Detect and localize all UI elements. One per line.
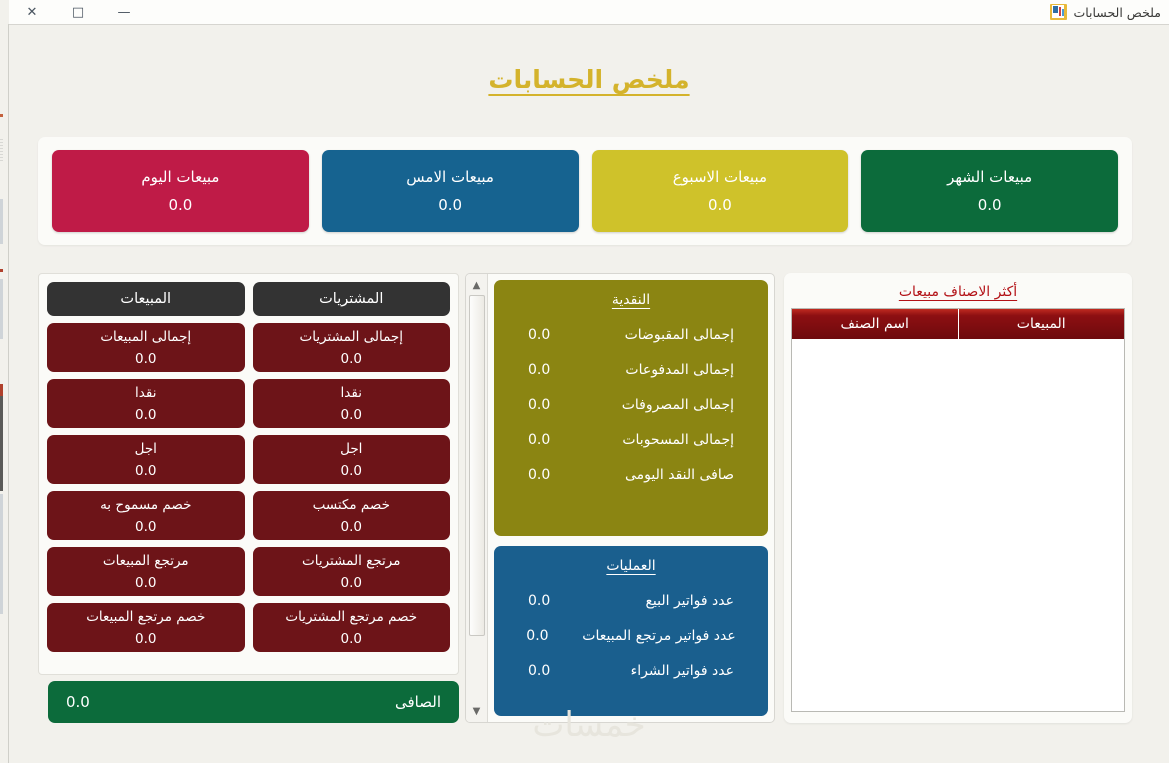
- cell-label: خصم مرتجع المشتريات: [285, 609, 417, 625]
- cash-card-title: النقدية: [510, 292, 752, 308]
- cell-value: 0.0: [135, 407, 156, 423]
- cell-value: 0.0: [341, 463, 362, 479]
- operations-row: عدد فواتير البيع 0.0: [510, 593, 752, 609]
- cell-value: 0.0: [341, 351, 362, 367]
- sales-purchases-panel: المشتريات المبيعات إجمالى المشتريات 0.0 …: [38, 273, 459, 675]
- table-body[interactable]: [792, 339, 1124, 711]
- kpi-value: 0.0: [168, 196, 192, 214]
- maximize-button[interactable]: □: [55, 0, 101, 25]
- cell-discount-earned[interactable]: خصم مكتسب 0.0: [253, 491, 451, 540]
- cell-value: 0.0: [135, 351, 156, 367]
- operations-row: عدد فواتير مرتجع المبيعات 0.0: [510, 628, 752, 644]
- cell-label: نقدا: [341, 385, 362, 401]
- kpi-card-weekly-sales[interactable]: مبيعات الاسبوع 0.0: [592, 150, 849, 232]
- table-column-header-sales[interactable]: المبيعات: [958, 309, 1125, 339]
- page-title: ملخص الحسابات: [9, 65, 1169, 94]
- operations-row-label: عدد فواتير مرتجع المبيعات: [582, 628, 735, 644]
- cash-row-label: صافى النقد اليومى: [584, 467, 734, 483]
- cell-label: مرتجع المشتريات: [302, 553, 400, 569]
- cell-value: 0.0: [341, 631, 362, 647]
- cell-sales-credit[interactable]: اجل 0.0: [47, 435, 245, 484]
- cash-row-label: إجمالى المقبوضات: [584, 327, 734, 343]
- cell-value: 0.0: [135, 575, 156, 591]
- cell-purchase-returns[interactable]: مرتجع المشتريات 0.0: [253, 547, 451, 596]
- cell-purchase-return-discount[interactable]: خصم مرتجع المشتريات 0.0: [253, 603, 451, 652]
- top-products-table: المبيعات اسم الصنف: [791, 308, 1125, 712]
- cash-card: النقدية إجمالى المقبوضات 0.0 إجمالى المد…: [494, 280, 768, 536]
- cell-sales-returns[interactable]: مرتجع المبيعات 0.0: [47, 547, 245, 596]
- cell-value: 0.0: [341, 519, 362, 535]
- cash-row-value: 0.0: [528, 327, 566, 343]
- edge-mark: [0, 269, 3, 272]
- edge-mark: [0, 494, 3, 614]
- page-content: ملخص الحسابات مبيعات الشهر 0.0 مبيعات ال…: [9, 25, 1169, 763]
- kpi-label: مبيعات الامس: [406, 168, 494, 186]
- cash-operations-panel: ▲ ▼ النقدية إجمالى المقبوضات 0.0: [465, 273, 775, 723]
- operations-card-title: العمليات: [510, 558, 752, 574]
- edge-mark: [0, 139, 3, 161]
- kpi-label: مبيعات اليوم: [141, 168, 219, 186]
- operations-row-label: عدد فواتير الشراء: [584, 663, 734, 679]
- cash-row-value: 0.0: [528, 467, 566, 483]
- cell-purchases-cash[interactable]: نقدا 0.0: [253, 379, 451, 428]
- vertical-scrollbar[interactable]: ▲ ▼: [466, 274, 488, 722]
- cell-value: 0.0: [135, 631, 156, 647]
- cell-label: خصم مرتجع المبيعات: [86, 609, 205, 625]
- top-products-title: أكثر الاصناف مبيعات: [791, 280, 1125, 308]
- cell-sales-return-discount[interactable]: خصم مرتجع المبيعات 0.0: [47, 603, 245, 652]
- tab-purchases[interactable]: المشتريات: [253, 282, 451, 316]
- edge-mark: [0, 279, 3, 339]
- title-bar: ✕ □ — ملخص الحسابات: [9, 0, 1169, 25]
- cell-label: اجل: [340, 441, 362, 457]
- operations-card: العمليات عدد فواتير البيع 0.0 عدد فواتير…: [494, 546, 768, 716]
- cash-row-label: إجمالى المسحوبات: [584, 432, 734, 448]
- cash-row-label: إجمالى المصروفات: [584, 397, 734, 413]
- cash-row-label: إجمالى المدفوعات: [584, 362, 734, 378]
- kpi-card-row: مبيعات الشهر 0.0 مبيعات الاسبوع 0.0 مبيع…: [38, 137, 1132, 245]
- scrollbar-track[interactable]: [469, 295, 485, 701]
- cell-purchases-credit[interactable]: اجل 0.0: [253, 435, 451, 484]
- scroll-up-icon[interactable]: ▲: [468, 276, 486, 294]
- table-column-header-item-name[interactable]: اسم الصنف: [792, 309, 958, 339]
- cell-total-purchases[interactable]: إجمالى المشتريات 0.0: [253, 323, 451, 372]
- cell-label: نقدا: [135, 385, 156, 401]
- scroll-content: النقدية إجمالى المقبوضات 0.0 إجمالى المد…: [488, 274, 774, 722]
- kpi-card-today-sales[interactable]: مبيعات اليوم 0.0: [52, 150, 309, 232]
- edge-mark: [0, 114, 3, 117]
- minimize-button[interactable]: —: [101, 0, 147, 25]
- kpi-label: مبيعات الشهر: [947, 168, 1032, 186]
- cell-sales-cash[interactable]: نقدا 0.0: [47, 379, 245, 428]
- cell-label: اجل: [135, 441, 157, 457]
- cell-label: إجمالى المشتريات: [300, 329, 404, 345]
- cash-row-value: 0.0: [528, 432, 566, 448]
- edge-mark: [0, 199, 3, 244]
- cell-value: 0.0: [135, 463, 156, 479]
- cell-value: 0.0: [341, 407, 362, 423]
- tab-sales[interactable]: المبيعات: [47, 282, 245, 316]
- window-title: ملخص الحسابات: [1073, 5, 1161, 20]
- cash-row: صافى النقد اليومى 0.0: [510, 467, 752, 483]
- watermark: خمسات: [9, 705, 1169, 745]
- cash-row-value: 0.0: [528, 362, 566, 378]
- cell-value: 0.0: [341, 575, 362, 591]
- maximize-icon: □: [72, 6, 84, 19]
- background-window-edge: [0, 24, 9, 763]
- operations-row: عدد فواتير الشراء 0.0: [510, 663, 752, 679]
- dashboard-body: أكثر الاصناف مبيعات المبيعات اسم الصنف ▲: [38, 273, 1132, 733]
- cell-value: 0.0: [135, 519, 156, 535]
- operations-row-value: 0.0: [526, 628, 564, 644]
- cell-label: خصم مكتسب: [313, 497, 390, 513]
- cash-row: إجمالى المدفوعات 0.0: [510, 362, 752, 378]
- close-button[interactable]: ✕: [9, 0, 55, 25]
- kpi-value: 0.0: [708, 196, 732, 214]
- cash-row: إجمالى المصروفات 0.0: [510, 397, 752, 413]
- cash-row: إجمالى المسحوبات 0.0: [510, 432, 752, 448]
- kpi-card-yesterday-sales[interactable]: مبيعات الامس 0.0: [322, 150, 579, 232]
- cash-row-value: 0.0: [528, 397, 566, 413]
- operations-row-value: 0.0: [528, 663, 566, 679]
- top-products-panel: أكثر الاصناف مبيعات المبيعات اسم الصنف: [784, 273, 1132, 723]
- kpi-card-monthly-sales[interactable]: مبيعات الشهر 0.0: [861, 150, 1118, 232]
- window-title-group: ملخص الحسابات: [1050, 4, 1169, 20]
- cell-label: إجمالى المبيعات: [100, 329, 191, 345]
- kpi-value: 0.0: [438, 196, 462, 214]
- sales-purchases-grid: المشتريات المبيعات إجمالى المشتريات 0.0 …: [47, 282, 450, 652]
- scrollbar-thumb[interactable]: [469, 295, 485, 636]
- edge-mark: [0, 396, 3, 491]
- cell-discount-allowed[interactable]: خصم مسموح به 0.0: [47, 491, 245, 540]
- report-chart-icon: [1050, 4, 1067, 20]
- cash-row: إجمالى المقبوضات 0.0: [510, 327, 752, 343]
- edge-mark: [0, 384, 3, 396]
- minimize-icon: —: [118, 6, 131, 19]
- close-icon: ✕: [27, 6, 38, 19]
- kpi-value: 0.0: [978, 196, 1002, 214]
- table-header-row: المبيعات اسم الصنف: [792, 309, 1124, 339]
- kpi-label: مبيعات الاسبوع: [673, 168, 767, 186]
- operations-row-value: 0.0: [528, 593, 566, 609]
- cell-label: خصم مسموح به: [100, 497, 191, 513]
- app-window: ✕ □ — ملخص الحسابات ملخص الحسابات مبيعات…: [0, 0, 1169, 763]
- operations-row-label: عدد فواتير البيع: [584, 593, 734, 609]
- cell-total-sales[interactable]: إجمالى المبيعات 0.0: [47, 323, 245, 372]
- cell-label: مرتجع المبيعات: [103, 553, 189, 569]
